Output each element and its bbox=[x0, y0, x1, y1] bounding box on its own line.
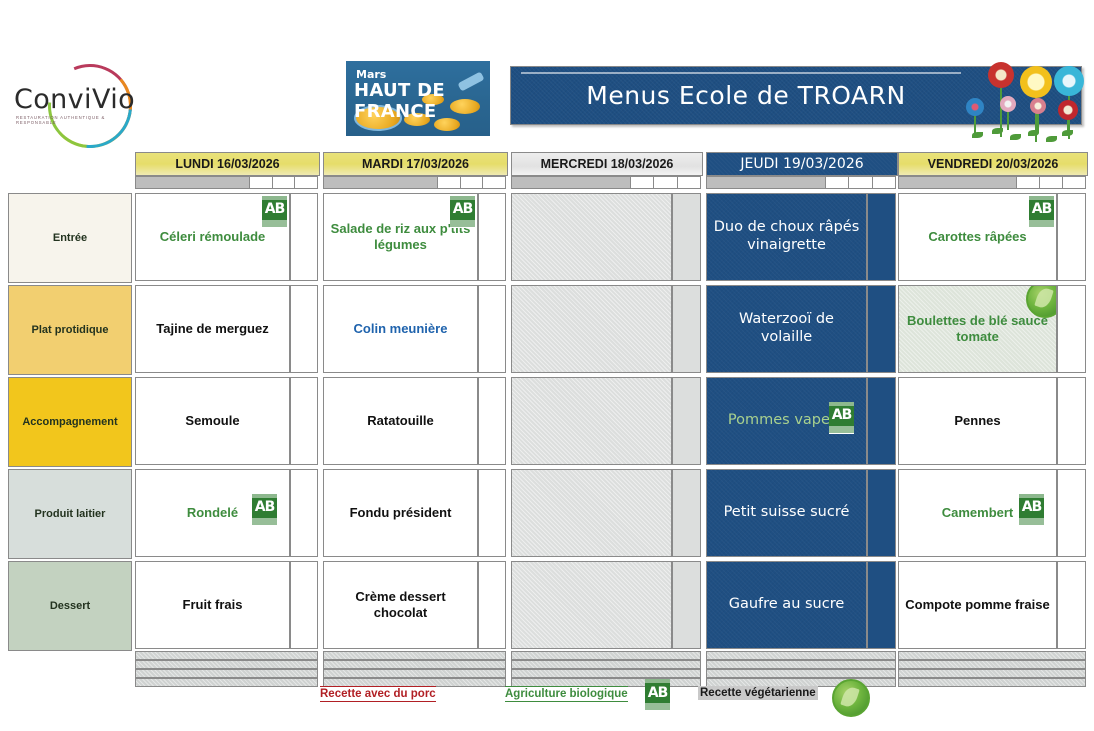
menu-item-text: Céleri rémoulade bbox=[154, 229, 272, 245]
row-label-dessert: Dessert bbox=[8, 561, 132, 651]
subheader-checkbox[interactable] bbox=[438, 176, 461, 189]
menu-item-text: Carottes râpées bbox=[922, 229, 1032, 245]
menu-cell-annex-jeudi-1[interactable] bbox=[867, 285, 896, 373]
flower-rose-small bbox=[1030, 98, 1046, 114]
subheader-checkbox[interactable] bbox=[483, 176, 506, 189]
subheader-checkbox[interactable] bbox=[654, 176, 677, 189]
menu-cell-annex-vendredi-2[interactable] bbox=[1057, 377, 1086, 465]
footer-band bbox=[706, 669, 896, 678]
menu-item-text: Ratatouille bbox=[361, 413, 439, 429]
menu-cell-annex-jeudi-4[interactable] bbox=[867, 561, 896, 649]
leaf-icon bbox=[1028, 130, 1039, 136]
menu-item-text: Boulettes de blé sauce tomate bbox=[899, 313, 1056, 345]
subheader-checkbox[interactable] bbox=[1017, 176, 1040, 189]
flower-red bbox=[988, 62, 1014, 88]
menu-cell-vendredi-0[interactable]: Carottes râpéesAB bbox=[898, 193, 1057, 281]
ab-logo-text: AB bbox=[1019, 498, 1044, 518]
menu-cell-annex-vendredi-3[interactable] bbox=[1057, 469, 1086, 557]
menu-cell-annex-mardi-2[interactable] bbox=[478, 377, 506, 465]
row-label-entr-e: Entrée bbox=[8, 193, 132, 283]
menu-item-text: Gaufre au sucre bbox=[723, 596, 851, 614]
column-header-label: MARDI 17/03/2026 bbox=[362, 157, 469, 171]
column-header-lundi: LUNDI 16/03/2026 bbox=[135, 152, 320, 176]
menu-cell-vendredi-2[interactable]: Pennes bbox=[898, 377, 1057, 465]
leaf-icon bbox=[972, 132, 983, 138]
menu-item-text: Waterzooï de volaille bbox=[707, 311, 866, 346]
ab-logo-icon: AB bbox=[262, 196, 287, 228]
menu-cell-jeudi-3[interactable]: Petit suisse sucré bbox=[706, 469, 867, 557]
subheader-checkbox[interactable] bbox=[1063, 176, 1086, 189]
menu-item-text: Compote pomme fraise bbox=[899, 597, 1055, 613]
menu-item-text: Fruit frais bbox=[177, 597, 249, 613]
column-subheader-band bbox=[898, 176, 1086, 189]
menu-cell-annex-lundi-4[interactable] bbox=[290, 561, 318, 649]
column-header-mercredi: MERCREDI 18/03/2026 bbox=[511, 152, 703, 176]
ab-logo-text: AB bbox=[645, 683, 670, 703]
menu-cell-annex-lundi-3[interactable] bbox=[290, 469, 318, 557]
column-subheader-band bbox=[511, 176, 701, 189]
ab-logo-text: AB bbox=[829, 406, 854, 426]
column-header-label: LUNDI 16/03/2026 bbox=[175, 157, 279, 171]
menu-item-text: Colin meunière bbox=[348, 321, 454, 337]
menu-cell-mercredi-4[interactable] bbox=[511, 561, 672, 649]
leaf-icon bbox=[1046, 136, 1057, 142]
menu-cell-mardi-3[interactable]: Fondu président bbox=[323, 469, 478, 557]
menu-item-text: Petit suisse sucré bbox=[718, 504, 856, 522]
menu-cell-jeudi-4[interactable]: Gaufre au sucre bbox=[706, 561, 867, 649]
footer-band bbox=[323, 660, 506, 669]
menu-cell-annex-mardi-3[interactable] bbox=[478, 469, 506, 557]
menu-cell-lundi-2[interactable]: Semoule bbox=[135, 377, 290, 465]
row-label-text: Entrée bbox=[53, 232, 87, 244]
menu-item-text: Rondelé bbox=[181, 505, 244, 521]
footer-band bbox=[706, 660, 896, 669]
footer-band bbox=[323, 651, 506, 660]
legend-bio-label: Agriculture biologique bbox=[505, 686, 628, 702]
ab-logo-text: AB bbox=[450, 200, 475, 220]
menu-cell-jeudi-0[interactable]: Duo de choux râpés vinaigrette bbox=[706, 193, 867, 281]
menu-cell-lundi-4[interactable]: Fruit frais bbox=[135, 561, 290, 649]
menu-cell-mercredi-3[interactable] bbox=[511, 469, 672, 557]
menu-item-text: Pennes bbox=[948, 413, 1006, 429]
column-header-jeudi: JEUDI 19/03/2026 bbox=[706, 152, 898, 176]
brand-name: ConviVio bbox=[14, 84, 132, 115]
menu-cell-lundi-1[interactable]: Tajine de merguez bbox=[135, 285, 290, 373]
menu-cell-annex-mercredi-0[interactable] bbox=[672, 193, 701, 281]
menu-cell-vendredi-3[interactable]: CamembertAB bbox=[898, 469, 1057, 557]
footer-band bbox=[511, 669, 701, 678]
menu-cell-mardi-2[interactable]: Ratatouille bbox=[323, 377, 478, 465]
menu-cell-mardi-0[interactable]: Salade de riz aux p'tits légumesAB bbox=[323, 193, 478, 281]
footer-band bbox=[511, 651, 701, 660]
menu-item-text: Semoule bbox=[179, 413, 245, 429]
footer-band bbox=[898, 669, 1086, 678]
ab-logo-text: AB bbox=[1029, 200, 1054, 220]
row-label-produit-laitier: Produit laitier bbox=[8, 469, 132, 559]
menu-cell-annex-mercredi-2[interactable] bbox=[672, 377, 701, 465]
menu-cell-vendredi-1[interactable]: Boulettes de blé sauce tomate bbox=[898, 285, 1057, 373]
menu-cell-annex-vendredi-1[interactable] bbox=[1057, 285, 1086, 373]
page-header: ConviVio RESTAURATION AUTHENTIQUE & RESP… bbox=[0, 0, 1094, 150]
column-subheader-band bbox=[323, 176, 506, 189]
ab-logo-icon: AB bbox=[252, 494, 277, 526]
footer-band bbox=[135, 669, 318, 678]
subheader-checkbox[interactable] bbox=[1040, 176, 1063, 189]
menu-cell-mardi-1[interactable]: Colin meunière bbox=[323, 285, 478, 373]
leaf-icon bbox=[1010, 134, 1021, 140]
menu-cell-vendredi-4[interactable]: Compote pomme fraise bbox=[898, 561, 1057, 649]
menu-cell-annex-mercredi-4[interactable] bbox=[672, 561, 701, 649]
subheader-checkbox[interactable] bbox=[849, 176, 872, 189]
ab-logo-icon: AB bbox=[645, 679, 670, 711]
subheader-grey bbox=[323, 176, 438, 189]
menu-table: LUNDI 16/03/2026MARDI 17/03/2026MERCREDI… bbox=[8, 150, 1086, 670]
row-label-text: Plat protidique bbox=[32, 324, 109, 336]
leaf-icon bbox=[1062, 130, 1073, 136]
menu-cell-annex-lundi-1[interactable] bbox=[290, 285, 318, 373]
menu-item-text: Fondu président bbox=[344, 505, 458, 521]
footer-band bbox=[898, 651, 1086, 660]
subheader-checkbox[interactable] bbox=[273, 176, 296, 189]
subheader-checkbox[interactable] bbox=[250, 176, 273, 189]
menu-item-text: Crème dessert chocolat bbox=[324, 589, 477, 621]
row-label-text: Accompagnement bbox=[22, 416, 117, 428]
ab-logo-icon: AB bbox=[1019, 494, 1044, 526]
menu-cell-mercredi-1[interactable] bbox=[511, 285, 672, 373]
footer-band bbox=[898, 660, 1086, 669]
legend: Recette avec du porc Agriculture biologi… bbox=[0, 678, 1094, 718]
subheader-checkbox[interactable] bbox=[461, 176, 484, 189]
menu-cell-annex-lundi-0[interactable] bbox=[290, 193, 318, 281]
footer-band bbox=[511, 660, 701, 669]
menu-cell-lundi-3[interactable]: RondeléAB bbox=[135, 469, 290, 557]
menu-cell-annex-jeudi-3[interactable] bbox=[867, 469, 896, 557]
menu-cell-annex-mardi-1[interactable] bbox=[478, 285, 506, 373]
menu-cell-annex-mercredi-3[interactable] bbox=[672, 469, 701, 557]
menu-cell-annex-mardi-4[interactable] bbox=[478, 561, 506, 649]
menu-item-text: Camembert bbox=[936, 505, 1020, 521]
menu-cell-mardi-4[interactable]: Crème dessert chocolat bbox=[323, 561, 478, 649]
column-header-label: JEUDI 19/03/2026 bbox=[740, 156, 863, 172]
column-subheader-band bbox=[135, 176, 318, 189]
menu-cell-annex-vendredi-0[interactable] bbox=[1057, 193, 1086, 281]
menu-cell-annex-jeudi-2[interactable] bbox=[867, 377, 896, 465]
subheader-grey bbox=[706, 176, 826, 189]
menu-item-text: Tajine de merguez bbox=[150, 321, 274, 337]
flower-blue-small bbox=[966, 98, 984, 116]
menu-cell-jeudi-1[interactable]: Waterzooï de volaille bbox=[706, 285, 867, 373]
column-header-label: VENDREDI 20/03/2026 bbox=[928, 157, 1059, 171]
vegetarian-logo-icon bbox=[832, 679, 870, 717]
subheader-grey bbox=[898, 176, 1017, 189]
promo-image-haut-de-france: Mars HAUT DE FRANCE bbox=[346, 61, 490, 136]
leaf-icon bbox=[992, 128, 1003, 134]
flower-target bbox=[1058, 100, 1078, 120]
menu-cell-annex-lundi-2[interactable] bbox=[290, 377, 318, 465]
subheader-grey bbox=[511, 176, 631, 189]
menu-cell-annex-vendredi-4[interactable] bbox=[1057, 561, 1086, 649]
flower-pink-small bbox=[1000, 96, 1016, 112]
row-label-text: Produit laitier bbox=[35, 508, 106, 520]
menu-cell-mercredi-2[interactable] bbox=[511, 377, 672, 465]
menu-cell-annex-mardi-0[interactable] bbox=[478, 193, 506, 281]
subheader-checkbox[interactable] bbox=[631, 176, 654, 189]
menu-cell-lundi-0[interactable]: Céleri rémouladeAB bbox=[135, 193, 290, 281]
column-header-label: MERCREDI 18/03/2026 bbox=[541, 157, 674, 171]
row-label-text: Dessert bbox=[50, 600, 90, 612]
menu-cell-annex-mercredi-1[interactable] bbox=[672, 285, 701, 373]
banner-rule bbox=[521, 72, 961, 74]
flower-cyan bbox=[1054, 66, 1084, 96]
subheader-checkbox[interactable] bbox=[295, 176, 318, 189]
ab-logo-icon: AB bbox=[1029, 196, 1054, 228]
menu-cell-mercredi-0[interactable] bbox=[511, 193, 672, 281]
brand-tagline: RESTAURATION AUTHENTIQUE & RESPONSABLE bbox=[16, 115, 140, 125]
ab-logo-text: AB bbox=[262, 200, 287, 220]
convivio-logo: ConviVio RESTAURATION AUTHENTIQUE & RESP… bbox=[14, 66, 159, 144]
column-header-vendredi: VENDREDI 20/03/2026 bbox=[898, 152, 1088, 176]
row-label-accompagnement: Accompagnement bbox=[8, 377, 132, 467]
menu-item-text: Duo de choux râpés vinaigrette bbox=[707, 219, 866, 254]
menu-cell-jeudi-2[interactable]: Pommes vapeurAB bbox=[706, 377, 867, 465]
promo-region: HAUT DE FRANCE bbox=[354, 80, 490, 122]
menu-cell-annex-jeudi-0[interactable] bbox=[867, 193, 896, 281]
flowers-decoration bbox=[958, 58, 1080, 140]
legend-vegetarien-label: Recette végétarienne bbox=[698, 686, 818, 700]
ab-logo-icon: AB bbox=[829, 402, 854, 434]
subheader-checkbox[interactable] bbox=[826, 176, 849, 189]
footer-band bbox=[706, 651, 896, 660]
footer-band bbox=[135, 651, 318, 660]
ab-logo-text: AB bbox=[252, 498, 277, 518]
row-label-plat-protidique: Plat protidique bbox=[8, 285, 132, 375]
footer-band bbox=[135, 660, 318, 669]
subheader-checkbox[interactable] bbox=[873, 176, 896, 189]
footer-band bbox=[323, 669, 506, 678]
column-header-mardi: MARDI 17/03/2026 bbox=[323, 152, 508, 176]
column-subheader-band bbox=[706, 176, 896, 189]
flower-yellow bbox=[1020, 66, 1052, 98]
legend-porc-label: Recette avec du porc bbox=[320, 686, 436, 702]
subheader-grey bbox=[135, 176, 250, 189]
subheader-checkbox[interactable] bbox=[678, 176, 701, 189]
ab-logo-icon: AB bbox=[450, 196, 475, 228]
